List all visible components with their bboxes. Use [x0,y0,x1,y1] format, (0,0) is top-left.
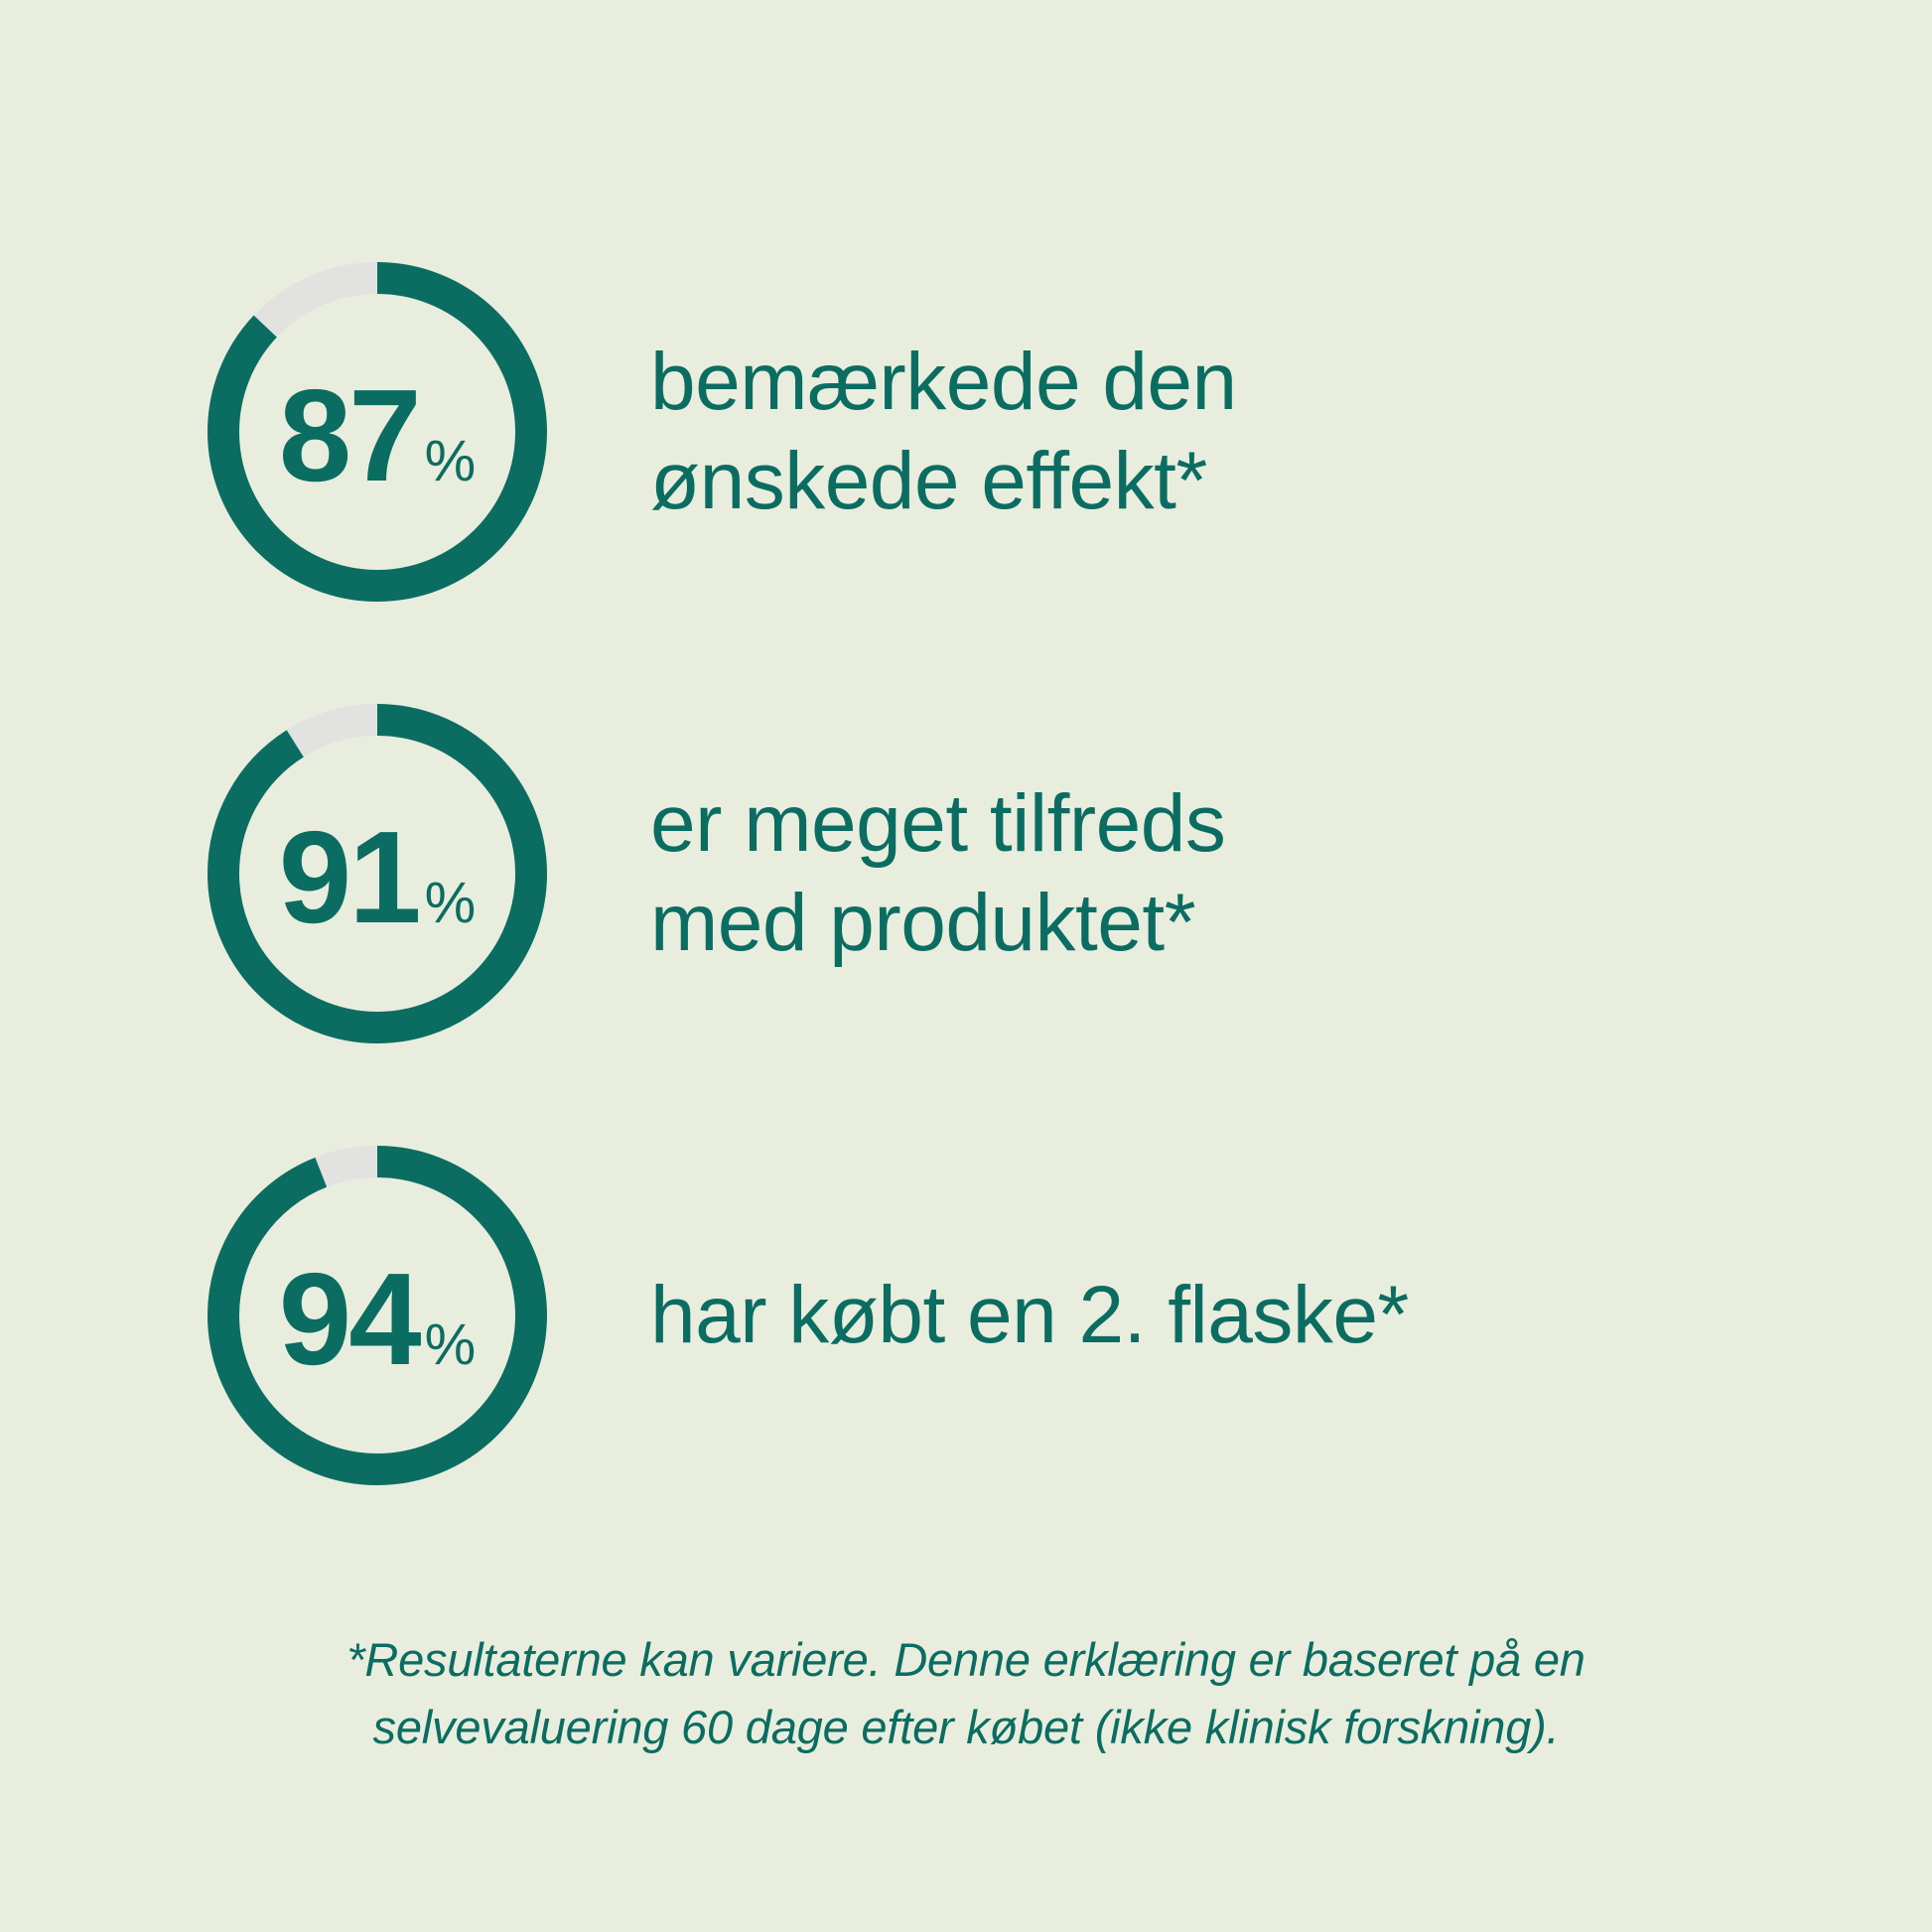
donut-number: 94 [279,1254,419,1385]
donut-center-label: 94 % [194,1132,561,1499]
donut-chart-87: 87 % [194,248,561,616]
donut-number: 91 [279,812,419,943]
stat-row: 94 % har købt en 2. flaske* [194,1132,1409,1499]
donut-value-group: 87 % [279,370,476,501]
stat-row: 91 % er meget tilfreds med produktet* [194,690,1225,1057]
donut-value-group: 91 % [279,812,476,943]
stat-label: er meget tilfreds med produktet* [650,774,1225,973]
donut-number: 87 [279,370,419,501]
donut-center-label: 91 % [194,690,561,1057]
stat-row: 87 % bemærkede den ønskede effekt* [194,248,1237,616]
donut-percent-symbol: % [425,875,477,932]
footnote-disclaimer: *Resultaterne kan variere. Denne erklæri… [261,1626,1671,1761]
donut-center-label: 87 % [194,248,561,616]
stat-label: bemærkede den ønskede effekt* [650,333,1237,531]
stat-label: har købt en 2. flaske* [650,1266,1409,1365]
donut-percent-symbol: % [425,433,477,490]
donut-value-group: 94 % [279,1254,476,1385]
donut-chart-94: 94 % [194,1132,561,1499]
infographic-page: 87 % bemærkede den ønskede effekt* 91 % [0,0,1932,1932]
donut-chart-91: 91 % [194,690,561,1057]
donut-percent-symbol: % [425,1316,477,1374]
